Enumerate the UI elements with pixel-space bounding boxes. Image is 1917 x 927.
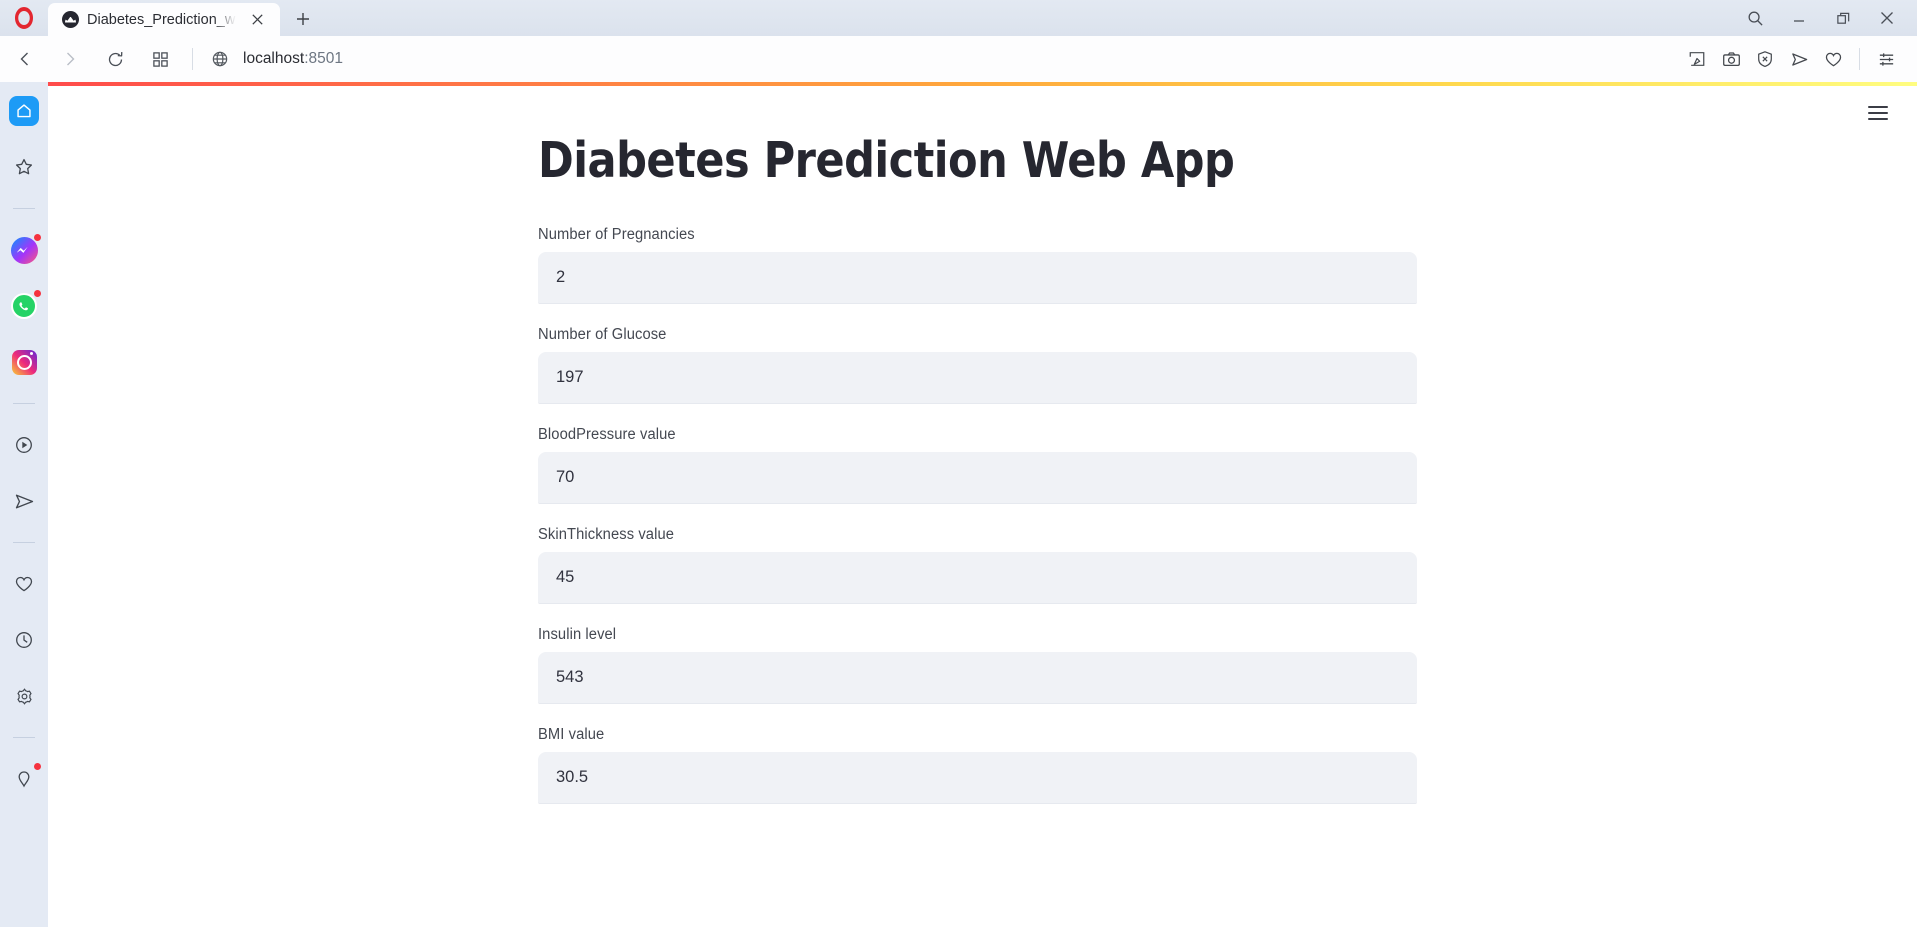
address-bar[interactable]: localhost:8501 (243, 50, 343, 68)
page-title: Diabetes Prediction Web App (538, 132, 1312, 190)
streamlit-app: Diabetes Prediction Web App Number of Pr… (48, 82, 1917, 927)
heart-icon[interactable] (1816, 42, 1850, 76)
streamlit-favicon-icon (62, 11, 79, 28)
bmi-input[interactable] (538, 752, 1417, 804)
navigation-bar: localhost:8501 (0, 36, 1917, 82)
field-label: BloodPressure value (538, 426, 1374, 444)
new-tab-button[interactable] (290, 6, 316, 32)
restore-icon[interactable] (1821, 2, 1865, 34)
skinthickness-input[interactable] (538, 552, 1417, 604)
insulin-input[interactable] (538, 652, 1417, 704)
sidebar-item-whatsapp[interactable] (9, 291, 39, 321)
sidebar-divider (13, 403, 35, 404)
pregnancies-input[interactable] (538, 252, 1417, 304)
address-host: localhost (243, 50, 304, 67)
snapshot-camera-icon[interactable] (1714, 42, 1748, 76)
opera-sidebar (0, 82, 48, 927)
field-insulin: Insulin level (538, 626, 1418, 704)
field-pregnancies: Number of Pregnancies (538, 226, 1418, 304)
sidebar-item-home[interactable] (9, 96, 39, 126)
sidebar-divider (13, 737, 35, 738)
field-bmi: BMI value (538, 726, 1418, 804)
flow-pin-icon[interactable] (1680, 42, 1714, 76)
sidebar-item-pinboards[interactable] (9, 569, 39, 599)
ad-blocker-shield-icon[interactable] (1748, 42, 1782, 76)
tab-title: Diabetes_Prediction_web_a (87, 12, 236, 28)
field-label: BMI value (538, 726, 1374, 744)
title-bar: Diabetes_Prediction_web_a (0, 0, 1917, 36)
window-controls (1733, 0, 1917, 36)
field-glucose: Number of Glucose (538, 326, 1418, 404)
browser-tab[interactable]: Diabetes_Prediction_web_a (48, 3, 280, 36)
globe-icon[interactable] (203, 50, 237, 68)
toolbar-divider (192, 48, 193, 70)
chevron-left-icon[interactable] (5, 39, 45, 79)
sidebar-item-history[interactable] (9, 625, 39, 655)
browser-window: Diabetes_Prediction_web_a (0, 0, 1917, 927)
sidebar-item-settings[interactable] (9, 681, 39, 711)
opera-logo-icon[interactable] (0, 0, 48, 36)
minimize-icon[interactable] (1777, 2, 1821, 34)
grid-icon[interactable] (140, 39, 180, 79)
field-label: Number of Pregnancies (538, 226, 1374, 244)
tab-strip: Diabetes_Prediction_web_a (48, 0, 1733, 36)
field-label: Insulin level (538, 626, 1374, 644)
field-label: SkinThickness value (538, 526, 1374, 544)
toolbar-divider (1859, 48, 1860, 70)
app-content-block: Diabetes Prediction Web App Number of Pr… (48, 82, 1917, 826)
sidebar-divider (13, 208, 35, 209)
sidebar-item-messenger[interactable] (9, 235, 39, 265)
field-skinthickness: SkinThickness value (538, 526, 1418, 604)
glucose-input[interactable] (538, 352, 1417, 404)
close-icon[interactable] (1865, 2, 1909, 34)
easy-setup-sliders-icon[interactable] (1869, 42, 1903, 76)
send-arrow-icon[interactable] (1782, 42, 1816, 76)
chevron-right-icon[interactable] (50, 39, 90, 79)
sidebar-item-instagram[interactable] (9, 347, 39, 377)
field-bloodpressure: BloodPressure value (538, 426, 1418, 504)
sidebar-item-telegram[interactable] (9, 486, 39, 516)
sidebar-divider (13, 542, 35, 543)
address-port: :8501 (304, 50, 343, 67)
sidebar-item-player[interactable] (9, 430, 39, 460)
bloodpressure-input[interactable] (538, 452, 1417, 504)
sidebar-item-whats-new[interactable] (9, 764, 39, 794)
close-icon[interactable] (244, 7, 270, 33)
app-container: Diabetes Prediction Web App Number of Pr… (538, 132, 1418, 804)
search-icon[interactable] (1733, 2, 1777, 34)
field-label: Number of Glucose (538, 326, 1374, 344)
sidebar-item-favorites[interactable] (9, 152, 39, 182)
reload-icon[interactable] (95, 39, 135, 79)
